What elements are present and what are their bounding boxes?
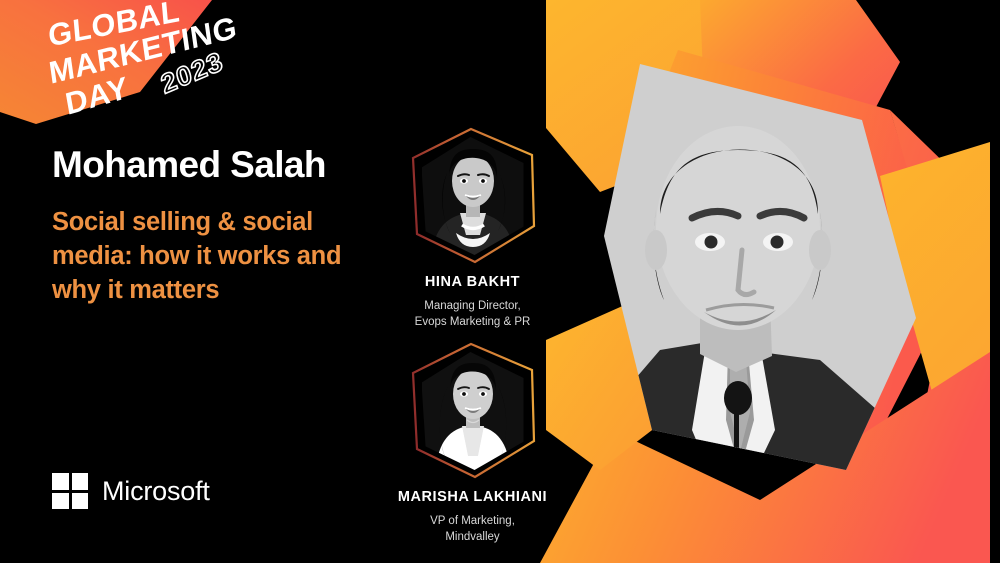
microsoft-square-3: [52, 493, 69, 510]
microsoft-squares-icon: [52, 473, 88, 509]
microsoft-square-2: [72, 473, 89, 490]
speaker-role: VP of Marketing, Mindvalley: [385, 513, 560, 546]
microsoft-square-4: [72, 493, 89, 510]
microsoft-logo: Microsoft: [52, 473, 210, 509]
speaker-role-line-2: Evops Marketing & PR: [385, 314, 560, 330]
speaker-role-line-1: Managing Director,: [385, 298, 560, 314]
speaker-name: MARISHA LAKHIANI: [385, 489, 560, 505]
speaker-role: Managing Director, Evops Marketing & PR: [385, 298, 560, 331]
speaker-hex-frame: [409, 341, 537, 481]
talk-title: Social selling & social media: how it wo…: [52, 205, 352, 307]
keynote-speaker-name: Mohamed Salah: [52, 146, 382, 185]
microsoft-square-1: [52, 473, 69, 490]
speaker-card[interactable]: HINA BAKHT Managing Director, Evops Mark…: [385, 126, 560, 331]
speaker-name: HINA BAKHT: [385, 274, 560, 290]
speaker-hex-frame: [409, 126, 537, 266]
speaker-role-line-1: VP of Marketing,: [385, 513, 560, 529]
speaker-card[interactable]: MARISHA LAKHIANI VP of Marketing, Mindva…: [385, 341, 560, 546]
talk-info: Mohamed Salah Social selling & social me…: [52, 146, 382, 307]
microsoft-wordmark: Microsoft: [102, 476, 210, 507]
speaker-role-line-2: Mindvalley: [385, 529, 560, 545]
